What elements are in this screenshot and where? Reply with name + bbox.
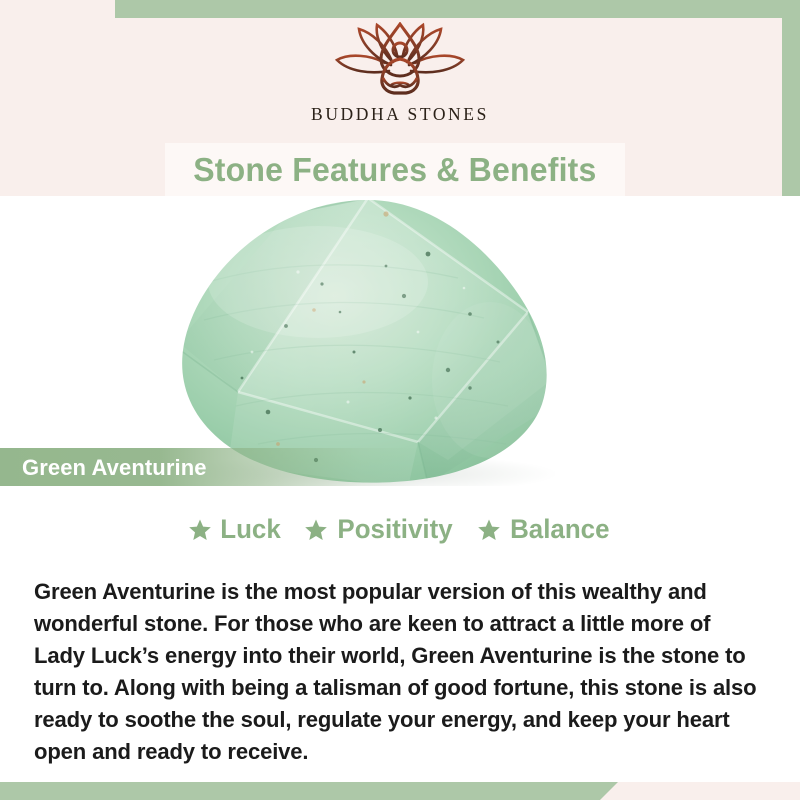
green-aventurine-stone-image — [118, 196, 618, 486]
stone-photo: Green Aventurine — [0, 196, 800, 486]
lotus-meditation-icon — [315, 22, 485, 100]
frame-strip-bottom — [0, 782, 618, 800]
content-card: Green Aventurine Luck Positivity — [0, 196, 800, 782]
keyword-list: Luck Positivity Balance — [0, 514, 800, 545]
keyword-item-luck: Luck — [188, 514, 282, 545]
star-icon — [188, 518, 212, 542]
brand-name: BUDDHA STONES — [285, 104, 515, 125]
star-icon — [304, 518, 328, 542]
keyword-label: Luck — [220, 514, 281, 545]
title-panel: Stone Features & Benefits — [165, 143, 625, 196]
keyword-label: Positivity — [338, 514, 453, 545]
keyword-label: Balance — [510, 514, 609, 545]
keyword-item-balance: Balance — [477, 514, 612, 545]
page-title: Stone Features & Benefits — [193, 151, 596, 189]
stone-name: Green Aventurine — [22, 455, 207, 481]
brand-logo: BUDDHA STONES — [285, 22, 515, 125]
infographic-page: BUDDHA STONES Stone Features & Benefits — [0, 0, 800, 800]
stone-description: Green Aventurine is the most popular ver… — [34, 576, 761, 768]
stone-label-band: Green Aventurine — [0, 448, 420, 486]
star-icon — [477, 518, 501, 542]
keyword-item-positivity: Positivity — [304, 514, 455, 545]
